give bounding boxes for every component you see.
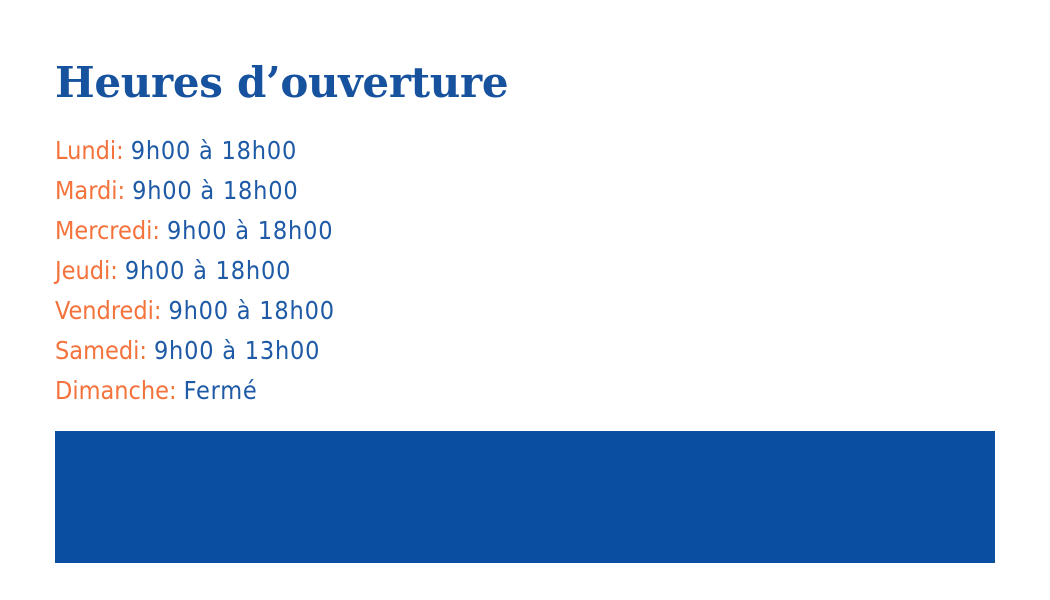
list-item: Mercredi:9h00 à 18h00	[55, 211, 655, 251]
time-value: 9h00 à 18h00	[132, 176, 298, 205]
day-label: Mercredi:	[55, 216, 160, 245]
day-label: Lundi:	[55, 136, 124, 165]
time-value: 9h00 à 18h00	[125, 256, 291, 285]
slide-canvas: Heures d’ouverture Lundi:9h00 à 18h00 Ma…	[0, 0, 1050, 600]
list-item: Jeudi:9h00 à 18h00	[55, 251, 655, 291]
list-item: Vendredi:9h00 à 18h00	[55, 291, 655, 331]
day-label: Vendredi:	[55, 296, 161, 325]
blue-banner-block	[55, 431, 995, 563]
day-label: Mardi:	[55, 176, 125, 205]
time-value: 9h00 à 18h00	[167, 216, 333, 245]
day-label: Samedi:	[55, 336, 147, 365]
time-value: 9h00 à 18h00	[131, 136, 297, 165]
list-item: Lundi:9h00 à 18h00	[55, 131, 655, 171]
time-value: 9h00 à 13h00	[154, 336, 320, 365]
list-item: Samedi:9h00 à 13h00	[55, 331, 655, 371]
time-value: Fermé	[184, 376, 258, 405]
page-title: Heures d’ouverture	[55, 58, 508, 108]
opening-hours-list: Lundi:9h00 à 18h00 Mardi:9h00 à 18h00 Me…	[55, 131, 655, 411]
day-label: Jeudi:	[55, 256, 118, 285]
list-item: Mardi:9h00 à 18h00	[55, 171, 655, 211]
time-value: 9h00 à 18h00	[168, 296, 334, 325]
day-label: Dimanche:	[55, 376, 177, 405]
list-item: Dimanche:Fermé	[55, 371, 655, 411]
